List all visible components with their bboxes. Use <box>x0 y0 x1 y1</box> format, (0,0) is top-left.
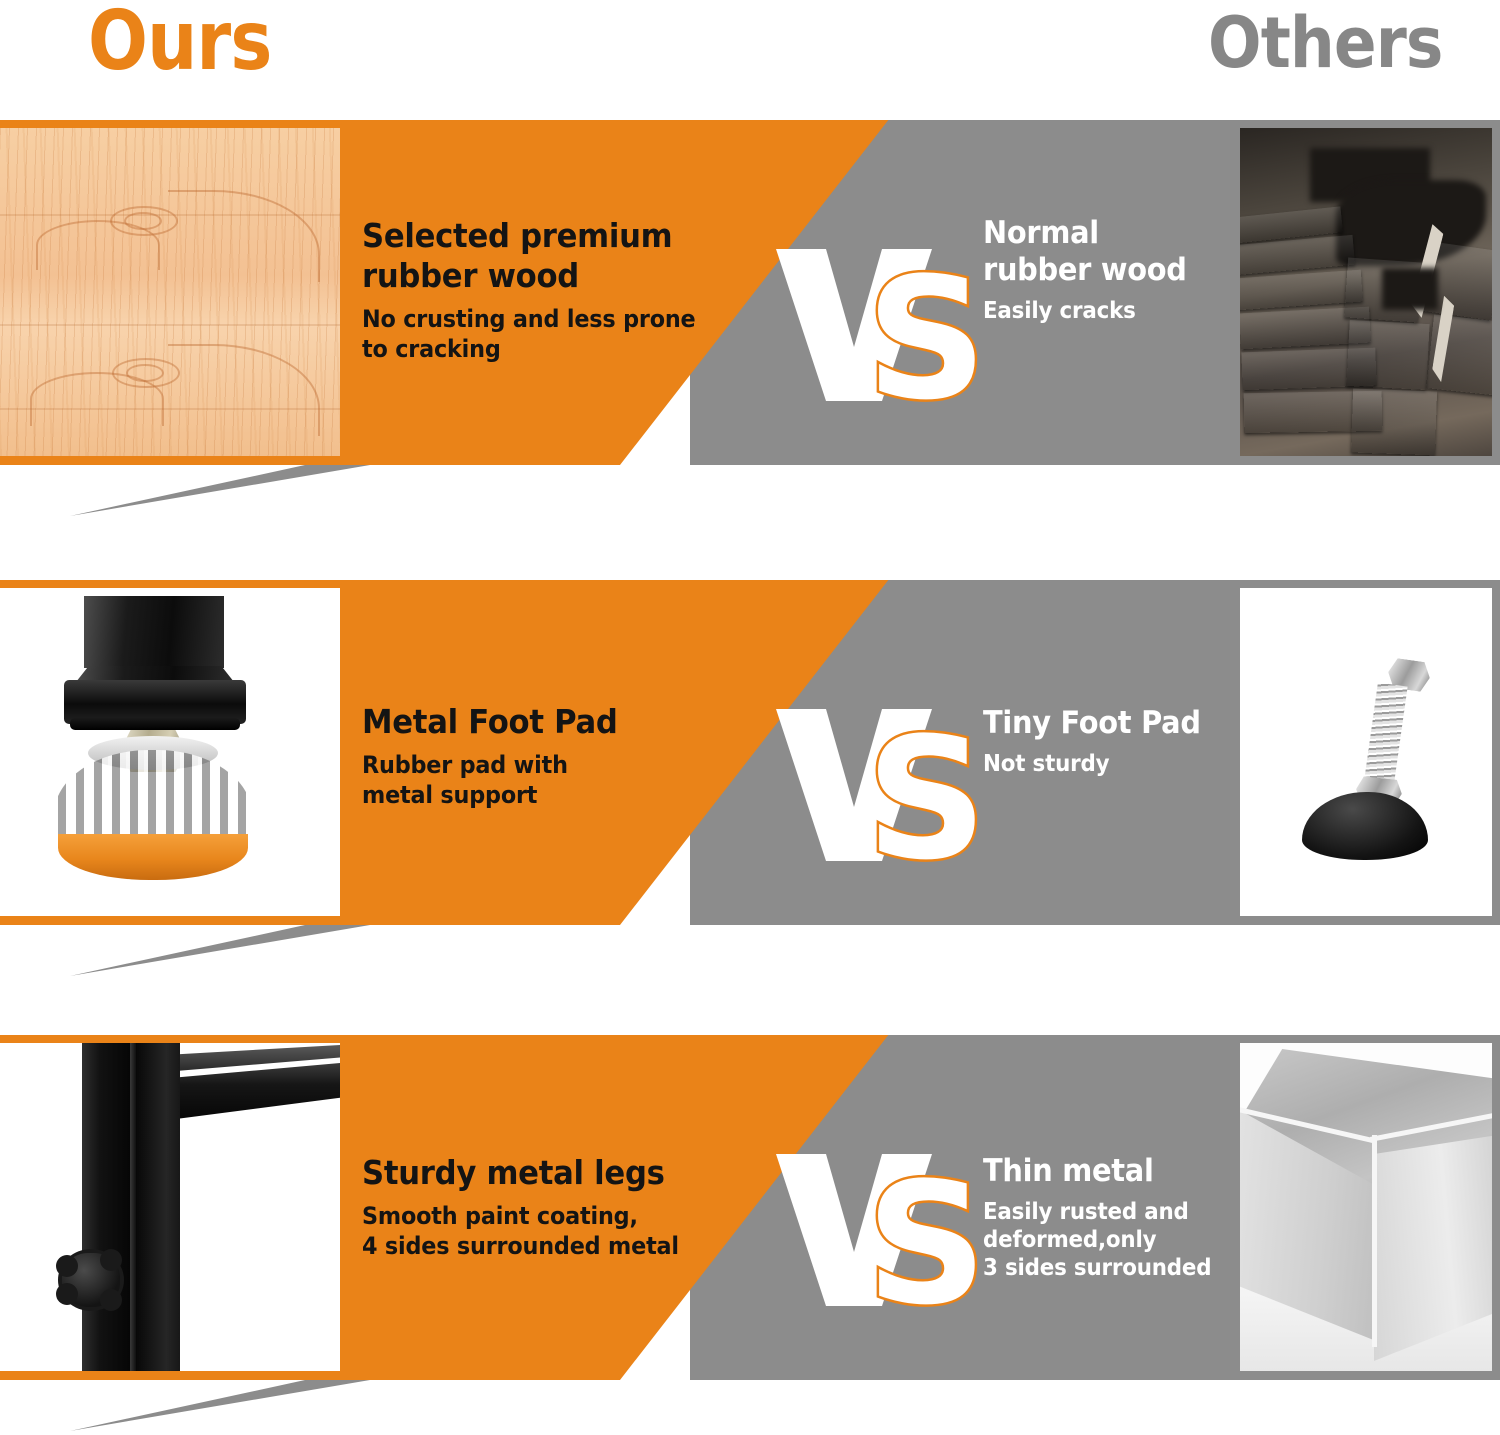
others-image-frame-metal-legs <box>1240 1043 1492 1371</box>
others-image-frame-foot-pad <box>1240 588 1492 916</box>
ours-heading-line2: rubber wood <box>362 256 734 296</box>
premium-rubber-wood-photo <box>0 128 340 456</box>
ours-title: Ours <box>88 0 271 89</box>
tiny-foot-pad-photo <box>1240 588 1492 916</box>
ours-heading-line1: Metal Foot Pad <box>362 702 734 742</box>
comparison-row-metal-legs: Sturdy metal legs Smooth paint coating, … <box>0 1035 1500 1435</box>
ours-image-frame-rubber-wood <box>0 128 340 456</box>
ours-subtext-line1: No crusting and less prone <box>362 304 734 334</box>
others-subtext-line2: deformed,only <box>983 1226 1234 1254</box>
comparison-row-foot-pad: Metal Foot Pad Rubber pad with metal sup… <box>0 580 1500 980</box>
others-heading-line1: Tiny Foot Pad <box>983 705 1234 742</box>
comparison-header: Ours Others <box>0 0 1500 120</box>
metal-foot-pad-photo <box>0 588 340 916</box>
ours-heading-line1: Selected premium <box>362 216 734 256</box>
ours-text-rubber-wood: Selected premium rubber wood No crusting… <box>362 216 762 364</box>
ours-subtext-line1: Rubber pad with <box>362 750 734 780</box>
ours-image-frame-foot-pad <box>0 588 340 916</box>
ours-subtext-line2: to cracking <box>362 334 734 364</box>
others-heading-line2: rubber wood <box>983 252 1234 289</box>
others-subtext-line3: 3 sides surrounded <box>983 1254 1234 1282</box>
sturdy-metal-legs-photo <box>0 1043 340 1371</box>
others-subtext-line1: Easily cracks <box>983 297 1234 325</box>
others-text-rubber-wood: Normal rubber wood Easily cracks <box>983 215 1253 325</box>
ours-subtext-line1: Smooth paint coating, <box>362 1201 734 1231</box>
cracked-wood-photo <box>1240 128 1492 456</box>
thin-metal-photo <box>1240 1043 1492 1371</box>
others-image-frame-rubber-wood <box>1240 128 1492 456</box>
ours-heading-line1: Sturdy metal legs <box>362 1153 734 1193</box>
others-subtext-line1: Not sturdy <box>983 750 1234 778</box>
others-heading-line1: Normal <box>983 215 1234 252</box>
others-heading-line1: Thin metal <box>983 1153 1234 1190</box>
others-subtext-line1: Easily rusted and <box>983 1198 1234 1226</box>
ours-image-frame-metal-legs <box>0 1043 340 1371</box>
others-title: Others <box>1208 2 1442 84</box>
ours-text-foot-pad: Metal Foot Pad Rubber pad with metal sup… <box>362 702 762 810</box>
others-text-metal-legs: Thin metal Easily rusted and deformed,on… <box>983 1153 1253 1282</box>
comparison-row-rubber-wood: Selected premium rubber wood No crusting… <box>0 120 1500 520</box>
others-text-foot-pad: Tiny Foot Pad Not sturdy <box>983 705 1253 778</box>
ours-text-metal-legs: Sturdy metal legs Smooth paint coating, … <box>362 1153 762 1261</box>
ours-subtext-line2: 4 sides surrounded metal <box>362 1231 734 1261</box>
ours-subtext-line2: metal support <box>362 780 734 810</box>
